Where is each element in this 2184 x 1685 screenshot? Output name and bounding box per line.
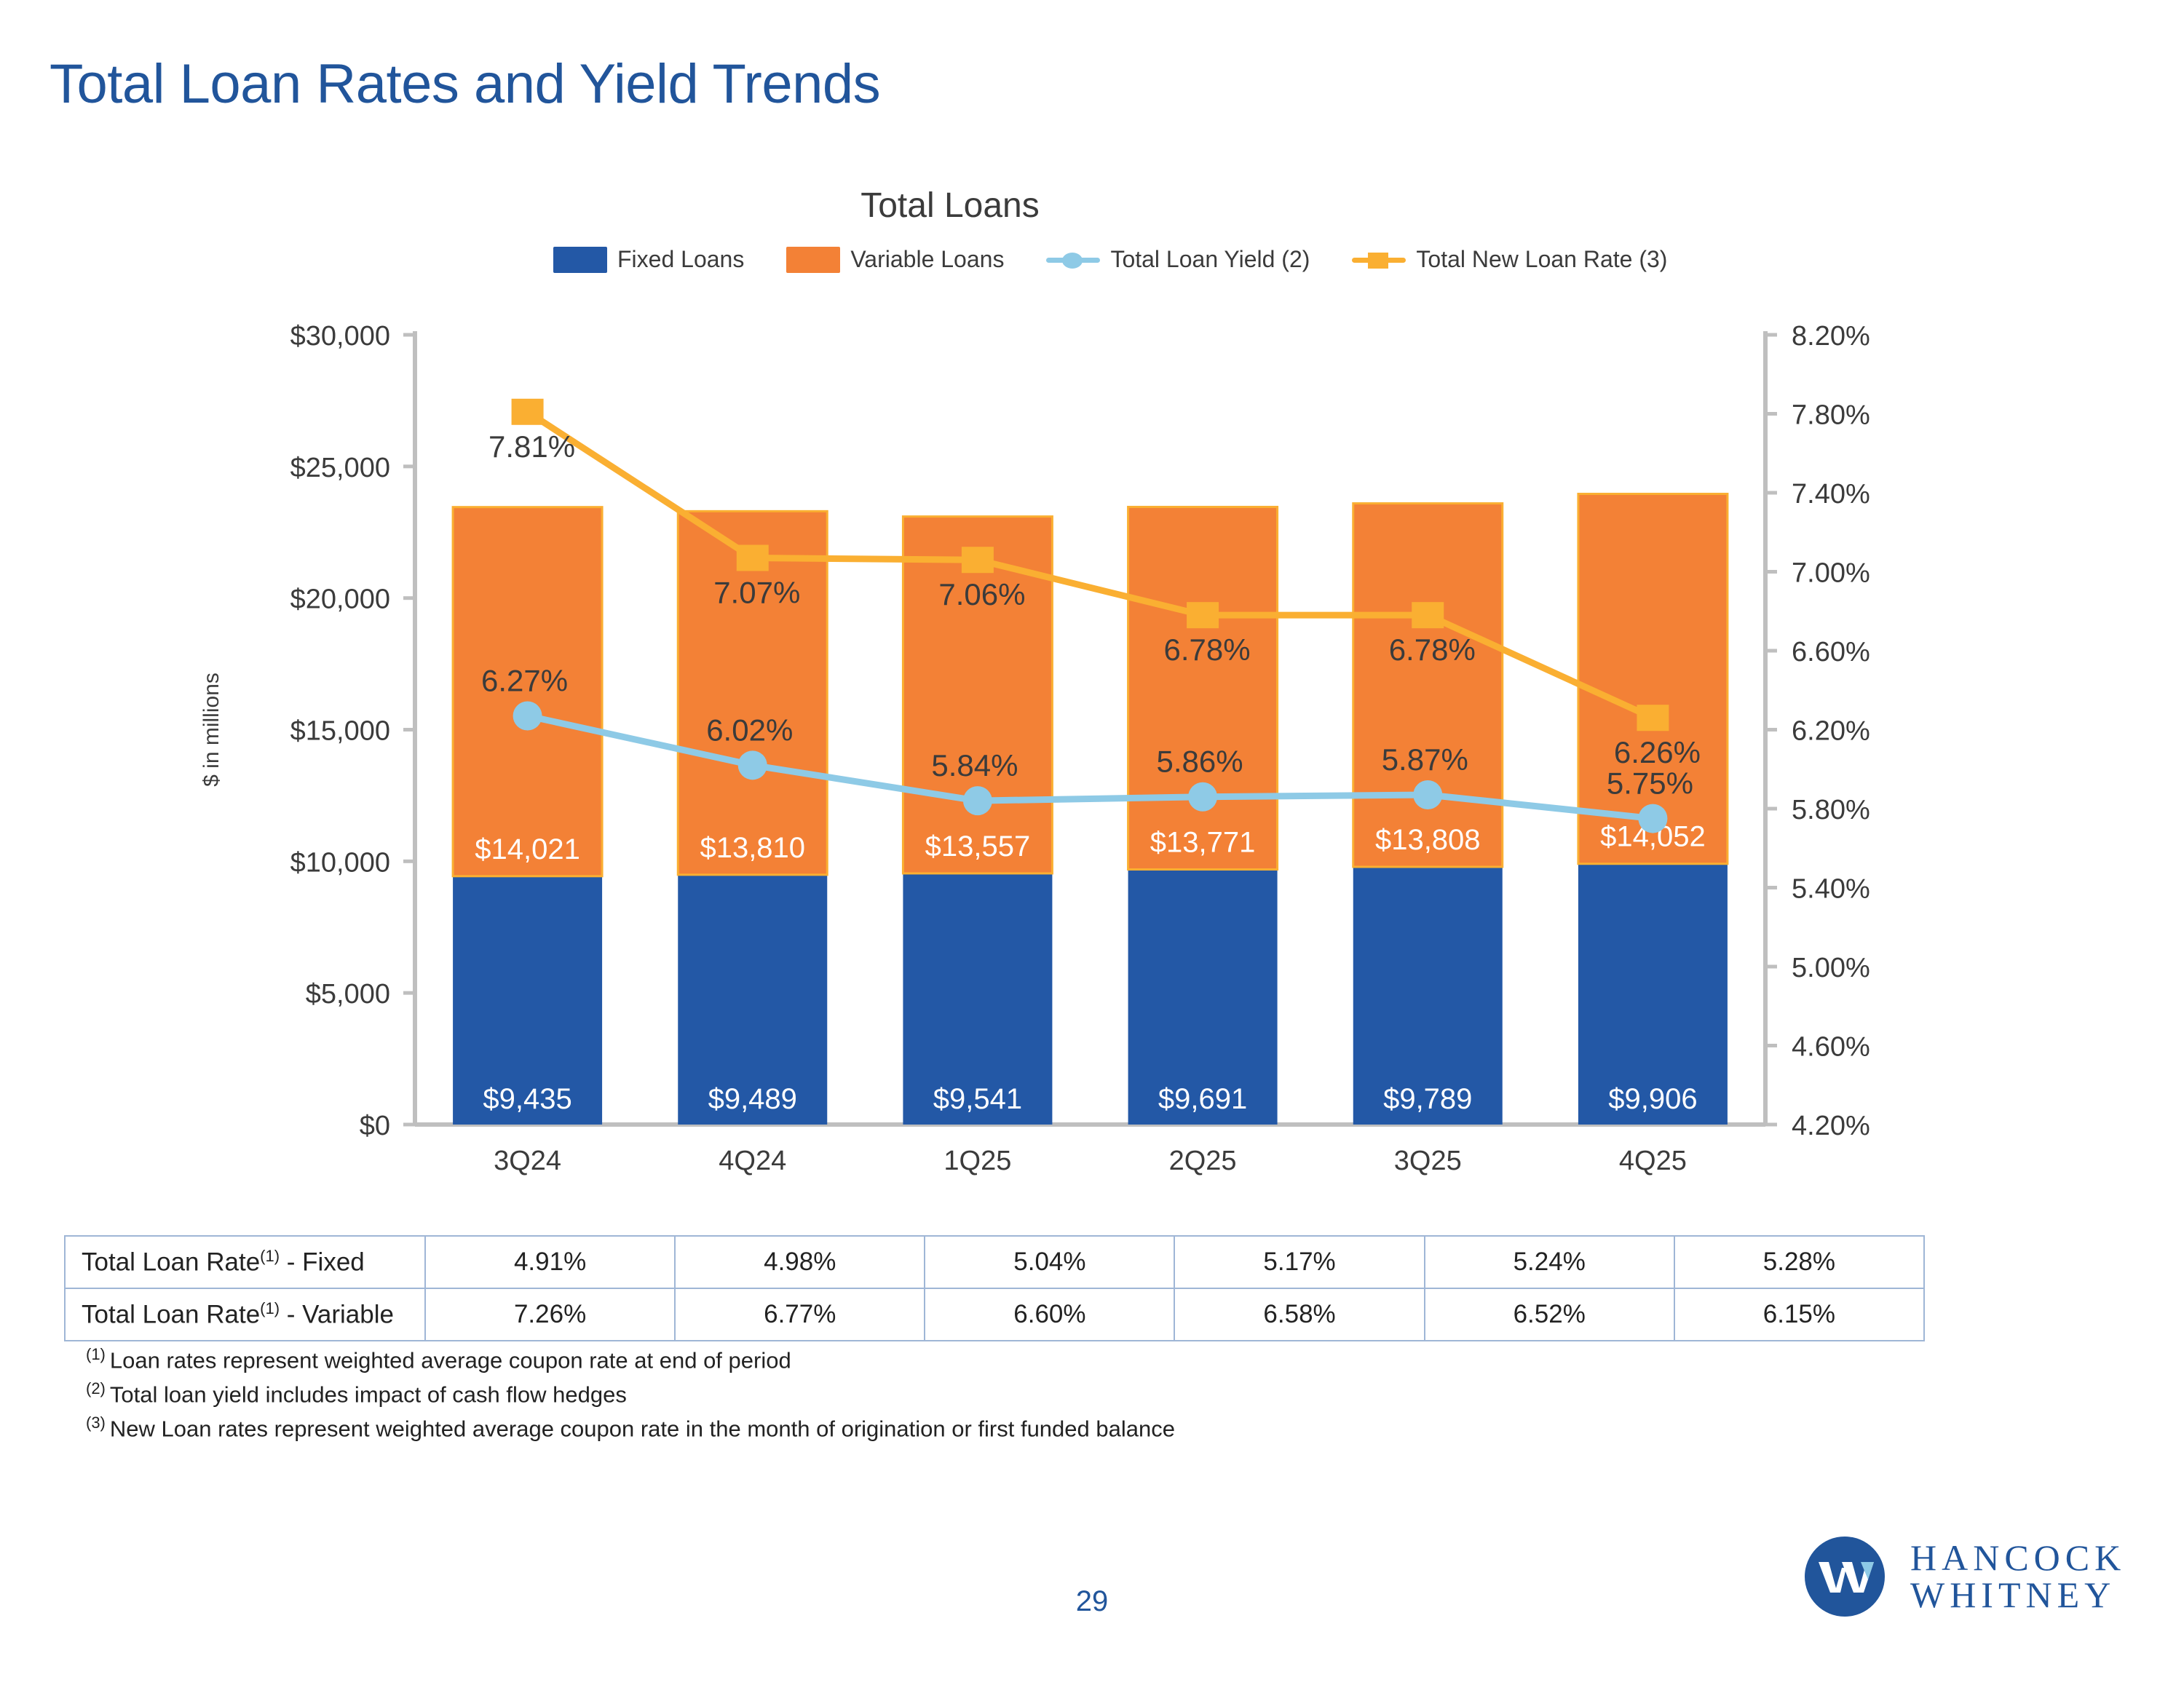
marker-square[interactable]	[962, 547, 994, 573]
table-cell: 4.91%	[425, 1236, 675, 1288]
marker-circle[interactable]	[1188, 782, 1217, 812]
legend-item-1[interactable]: Variable Loans	[786, 246, 1004, 273]
x-tick-label: 4Q24	[719, 1146, 786, 1176]
y2-tick-label: 5.00%	[1792, 953, 1870, 983]
y-tick-label: $20,000	[290, 584, 390, 615]
legend-label: Variable Loans	[850, 246, 1004, 273]
y2-tick-label: 4.60%	[1792, 1032, 1870, 1063]
bar-label-variable: $13,810	[700, 832, 805, 864]
marker-square[interactable]	[737, 545, 769, 571]
point-label: 6.27%	[481, 664, 568, 698]
y-tick-label: $25,000	[290, 453, 390, 483]
bar-label-variable: $13,771	[1150, 827, 1256, 859]
footnote-3: (3)New Loan rates represent weighted ave…	[86, 1411, 1175, 1446]
point-label: 7.81%	[488, 429, 575, 464]
point-label: 5.86%	[1157, 745, 1243, 779]
chart-legend: Fixed LoansVariable LoansTotal Loan Yiel…	[553, 246, 1747, 273]
bar-label-fixed: $9,906	[1608, 1083, 1697, 1115]
marker-circle[interactable]	[738, 750, 767, 780]
legend-item-3[interactable]: Total New Loan Rate (3)	[1352, 246, 1667, 273]
page-title: Total Loan Rates and Yield Trends	[50, 52, 880, 116]
x-tick-label: 2Q25	[1169, 1146, 1237, 1176]
point-label: 7.06%	[938, 577, 1025, 611]
y2-tick-label: 6.20%	[1792, 716, 1870, 747]
point-label: 6.26%	[1614, 735, 1701, 769]
table-cell: 5.17%	[1174, 1236, 1424, 1288]
logo-line-2: WHITNEY	[1910, 1577, 2126, 1614]
point-label: 7.07%	[713, 576, 800, 610]
bar-label-fixed: $9,691	[1158, 1083, 1247, 1115]
point-label: 5.87%	[1382, 742, 1468, 777]
y2-tick-label: 5.40%	[1792, 874, 1870, 905]
y2-tick-label: 4.20%	[1792, 1111, 1870, 1141]
legend-swatch-box	[786, 247, 840, 273]
y2-tick-label: 5.80%	[1792, 795, 1870, 825]
point-label: 6.78%	[1389, 633, 1476, 667]
y-tick-label: $10,000	[290, 847, 390, 878]
y2-tick-label: 7.80%	[1792, 400, 1870, 431]
marker-circle[interactable]	[963, 786, 992, 815]
table-row-header: Total Loan Rate(1) - Variable	[65, 1288, 425, 1341]
rate-table: Total Loan Rate(1) - Fixed4.91%4.98%5.04…	[64, 1235, 1925, 1341]
x-tick-label: 1Q25	[943, 1146, 1011, 1176]
y2-tick-label: 6.60%	[1792, 637, 1870, 667]
y-tick-label: $30,000	[290, 321, 390, 352]
point-label: 5.75%	[1607, 766, 1693, 801]
y-axis-title: $ in millions	[199, 673, 223, 787]
bar-variable[interactable]	[1128, 507, 1278, 869]
marker-square[interactable]	[512, 399, 544, 425]
table-cell: 6.52%	[1425, 1288, 1674, 1341]
table-cell: 7.26%	[425, 1288, 675, 1341]
point-label: 6.78%	[1164, 633, 1251, 667]
bar-label-variable: $13,557	[925, 830, 1031, 863]
bar-label-variable: $14,021	[475, 833, 580, 865]
legend-item-0[interactable]: Fixed Loans	[553, 246, 744, 273]
marker-square[interactable]	[1637, 705, 1669, 731]
hancock-whitney-logo: HANCOCK WHITNEY	[1804, 1536, 2126, 1617]
legend-swatch-box	[553, 247, 607, 273]
point-label: 6.02%	[706, 713, 793, 747]
chart-plot: $0$5,000$10,000$15,000$20,000$25,000$30,…	[0, 295, 2111, 1205]
footnote-2: (2)Total loan yield includes impact of c…	[86, 1377, 1175, 1411]
marker-square[interactable]	[1412, 602, 1444, 628]
bar-label-variable: $13,808	[1375, 824, 1481, 856]
legend-marker	[1062, 253, 1083, 269]
legend-label: Fixed Loans	[617, 246, 744, 273]
y2-tick-label: 8.20%	[1792, 321, 1870, 352]
bar-label-fixed: $9,789	[1383, 1083, 1472, 1115]
legend-label: Total New Loan Rate (3)	[1416, 246, 1667, 273]
table-cell: 6.60%	[925, 1288, 1174, 1341]
marker-square[interactable]	[1187, 602, 1219, 628]
x-tick-label: 3Q25	[1394, 1146, 1462, 1176]
logo-mark-icon	[1804, 1536, 1886, 1617]
point-label: 5.84%	[931, 748, 1018, 782]
x-tick-label: 3Q24	[494, 1146, 561, 1176]
table-cell: 6.77%	[675, 1288, 925, 1341]
table-row-header: Total Loan Rate(1) - Fixed	[65, 1236, 425, 1288]
x-tick-label: 4Q25	[1619, 1146, 1687, 1176]
footnote-1: (1)Loan rates represent weighted average…	[86, 1343, 1175, 1377]
legend-marker	[1368, 253, 1388, 269]
legend-swatch-line	[1046, 247, 1100, 273]
bar-label-fixed: $9,489	[708, 1083, 797, 1115]
logo-line-1: HANCOCK	[1910, 1539, 2126, 1577]
y-tick-label: $0	[360, 1111, 390, 1141]
y-tick-label: $15,000	[290, 716, 390, 747]
marker-circle[interactable]	[1413, 780, 1442, 809]
chart-container: Total Loans Fixed LoansVariable LoansTot…	[0, 186, 2111, 1205]
y2-tick-label: 7.00%	[1792, 558, 1870, 589]
table-cell: 4.98%	[675, 1236, 925, 1288]
bar-label-fixed: $9,435	[483, 1083, 571, 1115]
logo-wordmark: HANCOCK WHITNEY	[1910, 1539, 2126, 1614]
table-row: Total Loan Rate(1) - Variable7.26%6.77%6…	[65, 1288, 1924, 1341]
footnotes-block: (1)Loan rates represent weighted average…	[86, 1343, 1175, 1446]
chart-title: Total Loans	[0, 186, 1900, 226]
legend-label: Total Loan Yield (2)	[1110, 246, 1310, 273]
legend-item-2[interactable]: Total Loan Yield (2)	[1046, 246, 1310, 273]
y-tick-label: $5,000	[306, 979, 390, 1010]
table-cell: 5.04%	[925, 1236, 1174, 1288]
bar-label-fixed: $9,541	[933, 1083, 1022, 1115]
table-cell: 6.15%	[1674, 1288, 1924, 1341]
table-cell: 6.58%	[1174, 1288, 1424, 1341]
legend-swatch-line	[1352, 247, 1406, 273]
slide-root: Total Loan Rates and Yield Trends Total …	[0, 0, 2184, 1685]
table-cell: 5.24%	[1425, 1236, 1674, 1288]
table-cell: 5.28%	[1674, 1236, 1924, 1288]
marker-circle[interactable]	[1638, 804, 1667, 833]
y2-tick-label: 7.40%	[1792, 479, 1870, 510]
marker-circle[interactable]	[513, 702, 542, 731]
table-row: Total Loan Rate(1) - Fixed4.91%4.98%5.04…	[65, 1236, 1924, 1288]
bar-variable[interactable]	[1353, 504, 1503, 867]
